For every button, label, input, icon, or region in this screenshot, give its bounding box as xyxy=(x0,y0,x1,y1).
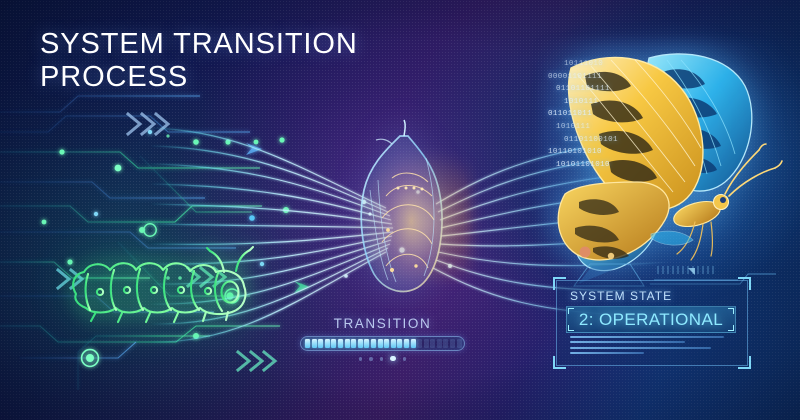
transition-step-dots[interactable] xyxy=(300,357,465,361)
progress-segment xyxy=(411,339,416,348)
progress-segment xyxy=(457,339,462,348)
hud-detail-line xyxy=(570,352,644,354)
hud-detail-line xyxy=(570,347,711,349)
progress-segment xyxy=(397,339,402,348)
system-state-label: SYSTEM STATE xyxy=(570,289,672,303)
hud-detail-lines xyxy=(570,336,730,357)
step-dot[interactable] xyxy=(369,357,373,361)
progress-segment xyxy=(364,339,369,348)
progress-segment xyxy=(443,339,448,348)
progress-segment xyxy=(358,339,363,348)
page-title: SYSTEM TRANSITION PROCESS xyxy=(40,28,358,94)
progress-segment xyxy=(437,339,442,348)
step-dot[interactable] xyxy=(403,357,407,361)
progress-segment xyxy=(430,339,435,348)
progress-segment xyxy=(331,339,336,348)
progress-segment xyxy=(417,339,422,348)
progress-segment xyxy=(450,339,455,348)
corner-bracket-bottom-right-icon xyxy=(738,356,751,369)
progress-segment xyxy=(312,339,317,348)
transition-progress-widget: TRANSITION xyxy=(300,316,465,361)
progress-segment xyxy=(318,339,323,348)
progress-segment xyxy=(305,339,310,348)
progress-segment xyxy=(338,339,343,348)
progress-segment xyxy=(378,339,383,348)
progress-segment xyxy=(404,339,409,348)
value-bracket-c-icon xyxy=(568,325,574,331)
poster-canvas: 1011101000001101111011011011111010111011… xyxy=(0,0,800,420)
value-bracket-a-icon xyxy=(568,308,574,314)
corner-bracket-top-left-icon xyxy=(553,277,566,290)
progress-segment xyxy=(391,339,396,348)
progress-segment xyxy=(351,339,356,348)
progress-segment xyxy=(325,339,330,348)
step-dot[interactable] xyxy=(359,357,363,361)
transition-label: TRANSITION xyxy=(300,316,465,331)
progress-segment xyxy=(345,339,350,348)
value-bracket-b-icon xyxy=(728,308,734,314)
butterfly-stage-icon xyxy=(545,42,800,292)
system-state-panel[interactable]: SYSTEM STATE 2: OPERATIONAL xyxy=(556,280,748,366)
chrysalis-stage-icon xyxy=(330,118,480,303)
system-state-value: 2: OPERATIONAL xyxy=(579,310,723,330)
corner-bracket-top-right-icon xyxy=(738,277,751,290)
caterpillar-stage-icon xyxy=(60,238,260,328)
step-dot[interactable] xyxy=(390,356,395,361)
progress-segment xyxy=(384,339,389,348)
value-bracket-d-icon xyxy=(728,325,734,331)
step-dot[interactable] xyxy=(380,357,384,361)
corner-bracket-bottom-left-icon xyxy=(553,356,566,369)
progress-segment xyxy=(371,339,376,348)
hud-detail-line xyxy=(570,341,685,343)
system-state-value-box: 2: OPERATIONAL xyxy=(566,306,736,333)
progress-segment xyxy=(424,339,429,348)
hud-detail-line xyxy=(570,336,724,338)
transition-progress-bar[interactable] xyxy=(300,336,465,351)
